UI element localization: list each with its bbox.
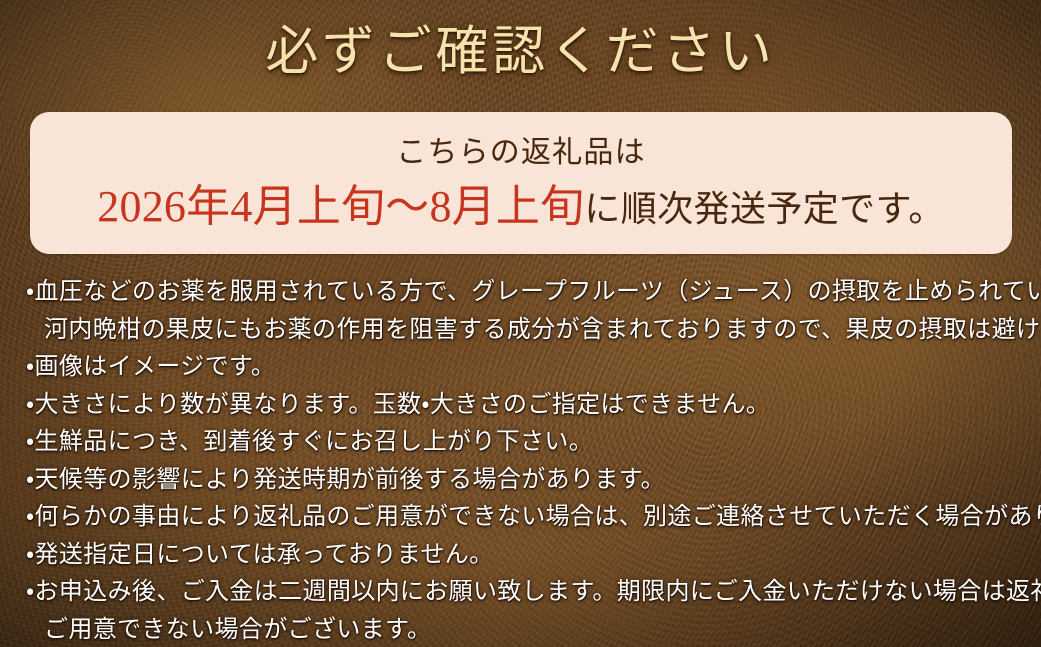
list-item: ・何らかの事由により返礼品のご用意ができない場合は、別途ご連絡させていただく場合… xyxy=(26,499,1026,537)
bullet-marker: ・ xyxy=(26,579,35,605)
shipping-date-range: 2026年4月上旬〜8月上旬 xyxy=(97,182,584,231)
bullet-marker: ・ xyxy=(26,392,35,418)
notice-intro-text: こちらの返礼品は xyxy=(396,138,646,168)
bullet-text: 河内晩柑の果皮にもお薬の作用を阻害する成分が含まれておりますので、果皮の摂取は避… xyxy=(44,317,1041,343)
list-item: 河内晩柑の果皮にもお薬の作用を阻害する成分が含まれておりますので、果皮の摂取は避… xyxy=(26,312,1026,350)
bullet-text: お申込み後、ご入金は二週間以内にお願い致します。期限内にご入金いただけない場合は… xyxy=(35,579,1041,605)
notice-shipping-period: 2026年4月上旬〜8月上旬に順次発送予定です。 xyxy=(97,185,945,229)
bullet-text: 大きさにより数が異なります。玉数・大きさのご指定はできません。 xyxy=(35,392,771,418)
list-item: ・お申込み後、ご入金は二週間以内にお願い致します。期限内にご入金いただけない場合… xyxy=(26,574,1026,612)
notes-list: ・血圧などのお薬を服用されている方で、グレープフルーツ（ジュース）の摂取を止めら… xyxy=(26,274,1026,647)
bullet-marker: ・ xyxy=(26,354,35,380)
bullet-marker: ・ xyxy=(26,279,35,305)
list-item: ・画像はイメージです。 xyxy=(26,349,1026,387)
shipping-period-suffix: に順次発送予定です。 xyxy=(584,189,944,229)
list-item: ・天候等の影響により発送時期が前後する場合があります。 xyxy=(26,462,1026,500)
bullet-text: 血圧などのお薬を服用されている方で、グレープフルーツ（ジュース）の摂取を止められ… xyxy=(35,279,1041,305)
notice-banner: 必ずご確認ください こちらの返礼品は 2026年4月上旬〜8月上旬に順次発送予定… xyxy=(0,0,1041,647)
bullet-text: 生鮮品につき、到着後すぐにお召し上がり下さい。 xyxy=(35,429,594,455)
list-item: ・生鮮品につき、到着後すぐにお召し上がり下さい。 xyxy=(26,424,1026,462)
bullet-marker: ・ xyxy=(26,467,35,493)
bullet-text: 画像はイメージです。 xyxy=(35,354,276,380)
shipping-notice-panel: こちらの返礼品は 2026年4月上旬〜8月上旬に順次発送予定です。 xyxy=(30,112,1012,254)
bullet-marker: ・ xyxy=(26,429,35,455)
bullet-marker: ・ xyxy=(26,542,35,568)
list-item: ・大きさにより数が異なります。玉数・大きさのご指定はできません。 xyxy=(26,387,1026,425)
bullet-text: 発送指定日については承っておりません。 xyxy=(35,542,494,568)
page-title: 必ずご確認ください xyxy=(0,22,1041,83)
bullet-text: ご用意できない場合がございます。 xyxy=(44,617,431,643)
list-item: ・血圧などのお薬を服用されている方で、グレープフルーツ（ジュース）の摂取を止めら… xyxy=(26,274,1026,312)
bullet-text: 天候等の影響により発送時期が前後する場合があります。 xyxy=(35,467,665,493)
bullet-text: 何らかの事由により返礼品のご用意ができない場合は、別途ご連絡させていただく場合が… xyxy=(35,504,1041,530)
bullet-marker: ・ xyxy=(26,504,35,530)
list-item: ・発送指定日については承っておりません。 xyxy=(26,537,1026,575)
list-item: ご用意できない場合がございます。 xyxy=(26,612,1026,647)
